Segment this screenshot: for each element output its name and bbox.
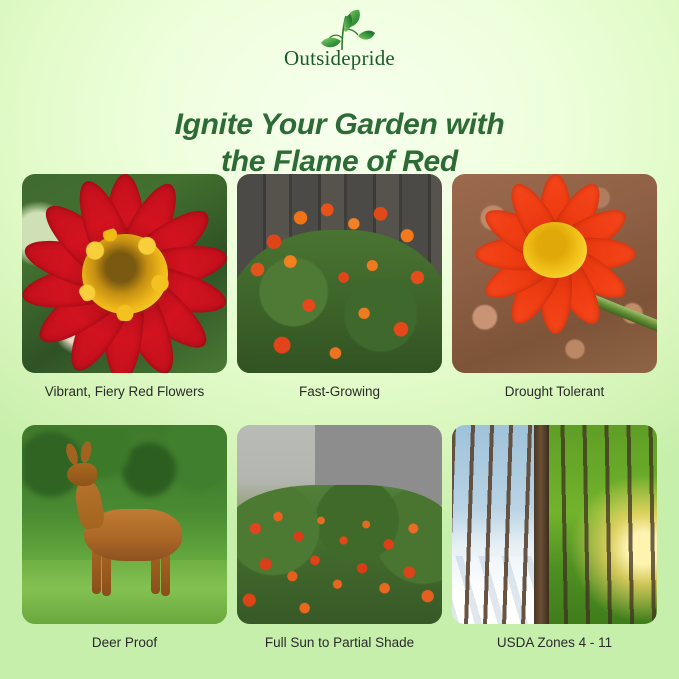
plant-against-fence-photo (237, 174, 442, 373)
flower-center (523, 222, 587, 278)
plant-blooms (237, 174, 442, 373)
feature-cell-drought-tolerant: Drought Tolerant (452, 174, 657, 400)
feature-row-top: Vibrant, Fiery Red Flowers Fast-Growing (22, 174, 657, 400)
feature-row-bottom: Deer Proof Full Sun to Partial Shade USD… (22, 425, 657, 651)
brand-logo: Outsidepride (0, 8, 679, 69)
feature-cell-sun-exposure: Full Sun to Partial Shade (237, 425, 442, 651)
deer-in-field-photo (22, 425, 227, 624)
feature-caption: Fast-Growing (299, 384, 380, 400)
feature-cell-usda-zones: USDA Zones 4 - 11 (452, 425, 657, 651)
feature-caption: Full Sun to Partial Shade (265, 635, 414, 651)
grass-foreground (22, 560, 227, 624)
feature-caption: USDA Zones 4 - 11 (497, 635, 612, 651)
feature-cell-vibrant-flowers: Vibrant, Fiery Red Flowers (22, 174, 227, 400)
feature-caption: Drought Tolerant (505, 384, 605, 400)
field-blooms (237, 425, 442, 624)
flower-center (82, 234, 168, 314)
summer-tree-trunks (542, 425, 657, 624)
flower-field-photo (237, 425, 442, 624)
feature-cell-deer-proof: Deer Proof (22, 425, 227, 651)
feature-cell-fast-growing: Fast-Growing (237, 174, 442, 400)
winter-tree-trunks (452, 425, 542, 624)
leaf-sprout-icon (301, 8, 379, 54)
feature-caption: Deer Proof (92, 635, 157, 651)
product-infographic: Outsidepride Ignite Your Garden with the… (0, 0, 679, 679)
red-flower-closeup-photo (22, 174, 227, 373)
center-tree-trunk (534, 425, 549, 624)
page-title: Ignite Your Garden with the Flame of Red (0, 106, 679, 180)
headline-line-1: Ignite Your Garden with (175, 108, 505, 141)
feature-caption: Vibrant, Fiery Red Flowers (45, 384, 205, 400)
four-seasons-forest-photo (452, 425, 657, 624)
deer-head (67, 463, 97, 486)
flower-in-dry-soil-photo (452, 174, 657, 373)
